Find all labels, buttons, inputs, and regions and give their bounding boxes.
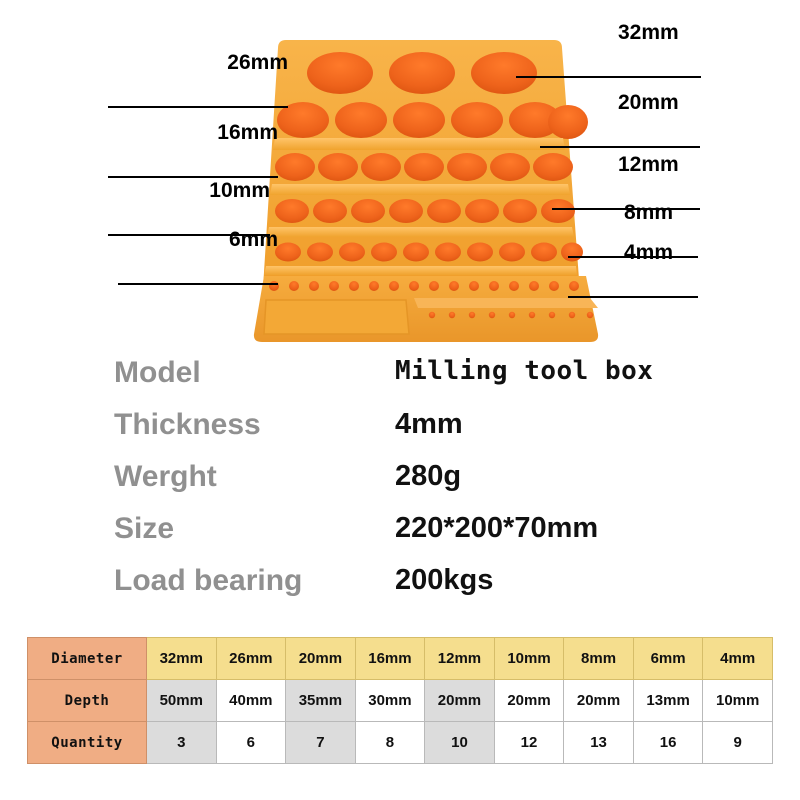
table-cell-quantity-0: 3 (147, 722, 217, 764)
table-cell-diameter-5: 10mm (494, 638, 564, 680)
table-cell-depth-6: 20mm (564, 680, 634, 722)
table-cell-depth-4: 20mm (425, 680, 495, 722)
callout-20mm-leader-line (540, 146, 700, 148)
spec-value-weight: 280g (395, 462, 461, 491)
spec-label-size: Size (114, 514, 174, 544)
table-rowhead-quantity: Quantity (28, 722, 147, 764)
table-rowhead-depth: Depth (28, 680, 147, 722)
table-cell-diameter-1: 26mm (216, 638, 286, 680)
milling-tool-box-base (246, 258, 606, 348)
table-cell-depth-1: 40mm (216, 680, 286, 722)
callout-20mm-label: 20mm (618, 92, 679, 113)
callout-26mm-leader-line (108, 106, 288, 108)
callout-12mm-label: 12mm (618, 154, 679, 175)
table-cell-quantity-6: 13 (564, 722, 634, 764)
table-cell-quantity-4: 10 (425, 722, 495, 764)
table-row-diameter: Diameter 32mm 26mm 20mm 16mm 12mm 10mm 8… (28, 638, 773, 680)
table-row-depth: Depth 50mm 40mm 35mm 30mm 20mm 20mm 20mm… (28, 680, 773, 722)
table-cell-depth-2: 35mm (286, 680, 356, 722)
table-cell-quantity-2: 7 (286, 722, 356, 764)
table-cell-depth-0: 50mm (147, 680, 217, 722)
table-cell-quantity-3: 8 (355, 722, 425, 764)
table-cell-quantity-8: 9 (703, 722, 773, 764)
spec-value-model: Milling tool box (395, 358, 653, 384)
spec-label-model: Model (114, 358, 201, 388)
table-rowhead-diameter: Diameter (28, 638, 147, 680)
table-cell-diameter-2: 20mm (286, 638, 356, 680)
callout-16mm-leader-line (108, 176, 278, 178)
table-cell-depth-7: 13mm (633, 680, 703, 722)
callout-6mm-label: 6mm (229, 229, 278, 250)
product-figure: 26mm 16mm 10mm 6mm 32mm 20mm 12mm 8mm 4m… (0, 0, 800, 345)
specification-list: Model Milling tool box Thickness 4mm Wer… (0, 352, 800, 614)
table-cell-quantity-1: 6 (216, 722, 286, 764)
table-cell-diameter-8: 4mm (703, 638, 773, 680)
spec-label-load-bearing: Load bearing (114, 566, 302, 596)
table-row-quantity: Quantity 3 6 7 8 10 12 13 16 9 (28, 722, 773, 764)
table-cell-diameter-6: 8mm (564, 638, 634, 680)
spec-row-thickness: Thickness 4mm (114, 410, 714, 462)
spec-value-load-bearing: 200kgs (395, 566, 493, 595)
table-cell-diameter-4: 12mm (425, 638, 495, 680)
callout-6mm-leader-line (118, 283, 278, 285)
specification-table: Diameter 32mm 26mm 20mm 16mm 12mm 10mm 8… (27, 637, 773, 764)
spec-value-size: 220*200*70mm (395, 514, 598, 543)
spec-label-weight: Werght (114, 462, 217, 492)
table-cell-quantity-7: 16 (633, 722, 703, 764)
table-cell-diameter-3: 16mm (355, 638, 425, 680)
callout-16mm-label: 16mm (217, 122, 278, 143)
callout-32mm-leader-line (516, 76, 701, 78)
spec-value-thickness: 4mm (395, 410, 463, 439)
spec-row-weight: Werght 280g (114, 462, 714, 514)
table-cell-depth-8: 10mm (703, 680, 773, 722)
table-cell-diameter-0: 32mm (147, 638, 217, 680)
callout-32mm-label: 32mm (618, 22, 679, 43)
hole-row-32mm (307, 52, 537, 94)
table-cell-quantity-5: 12 (494, 722, 564, 764)
spec-row-load-bearing: Load bearing 200kgs (114, 566, 714, 618)
callout-4mm-leader-line (568, 296, 698, 298)
callout-10mm-label: 10mm (209, 180, 270, 201)
table-cell-depth-5: 20mm (494, 680, 564, 722)
table-cell-depth-3: 30mm (355, 680, 425, 722)
callout-4mm-label: 4mm (624, 242, 673, 263)
table-cell-diameter-7: 6mm (633, 638, 703, 680)
callout-26mm-label: 26mm (227, 52, 288, 73)
spec-label-thickness: Thickness (114, 410, 261, 440)
callout-8mm-label: 8mm (624, 202, 673, 223)
spec-row-model: Model Milling tool box (114, 358, 714, 410)
spec-row-size: Size 220*200*70mm (114, 514, 714, 566)
